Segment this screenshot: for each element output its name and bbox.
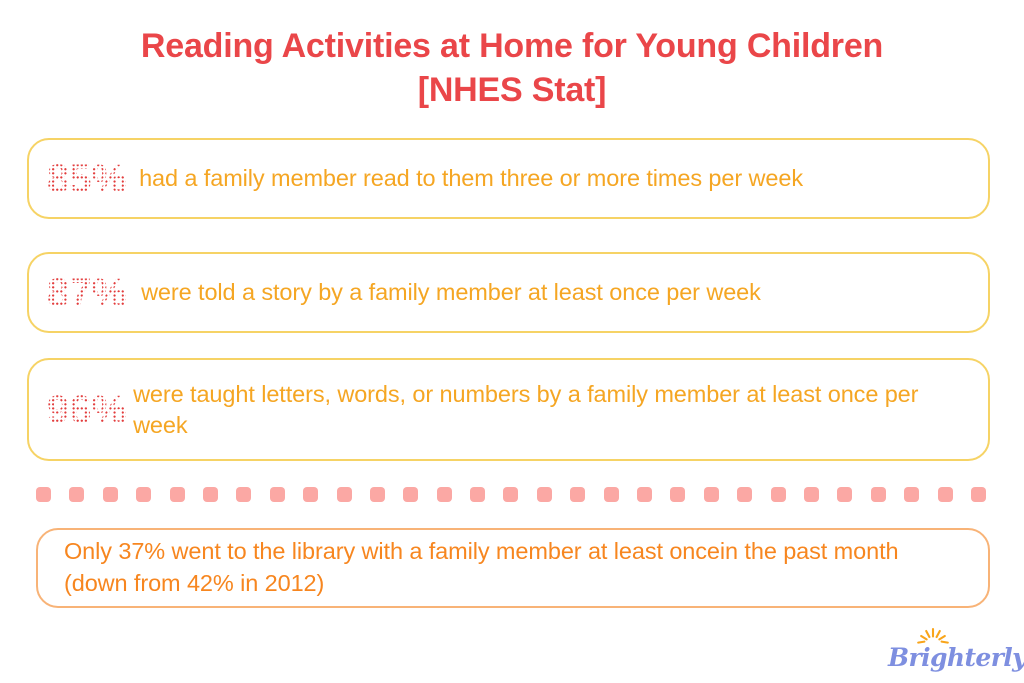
divider-square xyxy=(136,487,151,502)
brighterly-logo: Brighterly xyxy=(888,626,1008,672)
brighterly-wordmark: Brighterly xyxy=(888,645,1024,670)
divider-square xyxy=(170,487,185,502)
stat-card: 96% were taught letters, words, or numbe… xyxy=(27,358,990,461)
divider-square xyxy=(771,487,786,502)
divider-square xyxy=(69,487,84,502)
page-title-line-2: [NHES Stat] xyxy=(0,68,1024,112)
divider-square xyxy=(203,487,218,502)
divider-square xyxy=(837,487,852,502)
divider-square xyxy=(303,487,318,502)
page-title: Reading Activities at Home for Young Chi… xyxy=(0,24,1024,112)
dotted-square-divider xyxy=(36,486,986,502)
stat-percentage: 85% xyxy=(47,159,129,199)
note-box: Only 37% went to the library with a fami… xyxy=(36,528,990,608)
divider-square xyxy=(637,487,652,502)
divider-square xyxy=(670,487,685,502)
divider-square xyxy=(604,487,619,502)
divider-square xyxy=(971,487,986,502)
stat-percentage: 87% xyxy=(47,273,129,313)
divider-square xyxy=(503,487,518,502)
divider-square xyxy=(537,487,552,502)
divider-square xyxy=(337,487,352,502)
divider-square xyxy=(938,487,953,502)
note-text: Only 37% went to the library with a fami… xyxy=(64,536,962,600)
divider-square xyxy=(103,487,118,502)
stat-description: were taught letters, words, or numbers b… xyxy=(133,378,970,441)
stat-description: had a family member read to them three o… xyxy=(139,162,803,194)
divider-square xyxy=(904,487,919,502)
divider-square xyxy=(804,487,819,502)
divider-square xyxy=(36,487,51,502)
stat-description: were told a story by a family member at … xyxy=(141,276,761,308)
divider-square xyxy=(704,487,719,502)
stat-card: 85% had a family member read to them thr… xyxy=(27,138,990,219)
divider-square xyxy=(871,487,886,502)
divider-square xyxy=(403,487,418,502)
divider-square xyxy=(236,487,251,502)
divider-square xyxy=(370,487,385,502)
divider-square xyxy=(470,487,485,502)
page-title-line-1: Reading Activities at Home for Young Chi… xyxy=(0,24,1024,68)
divider-square xyxy=(570,487,585,502)
stat-card: 87% were told a story by a family member… xyxy=(27,252,990,333)
divider-square xyxy=(270,487,285,502)
stat-percentage: 96% xyxy=(47,390,129,430)
divider-square xyxy=(737,487,752,502)
divider-square xyxy=(437,487,452,502)
infographic-page: Reading Activities at Home for Young Chi… xyxy=(0,0,1024,683)
